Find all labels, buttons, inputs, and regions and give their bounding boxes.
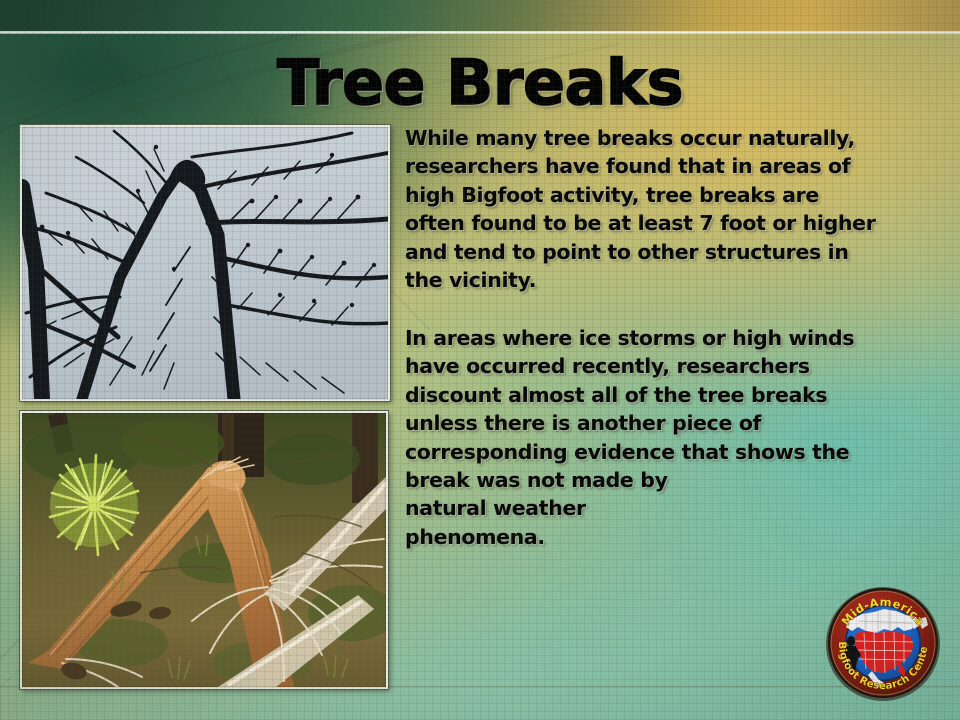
body-line: break was not made by (405, 466, 957, 494)
body-line: phenomena. (405, 523, 957, 551)
body-line: While many tree breaks occur naturally, (405, 124, 957, 152)
body-line: the vicinity. (405, 266, 957, 294)
body-line: discount almost all of the tree breaks (405, 381, 957, 409)
body-line: high Bigfoot activity, tree breaks are (405, 181, 957, 209)
body-paragraph-2: In areas where ice storms or high winds … (405, 324, 957, 551)
background-top-band (0, 0, 960, 32)
body-line: have occurred recently, researchers (405, 352, 957, 380)
body-line: unless there is another piece of (405, 409, 957, 437)
slide-tree-breaks: Tree Breaks (0, 0, 960, 720)
body-line: natural weather (405, 494, 957, 522)
body-line: In areas where ice storms or high winds (405, 324, 957, 352)
tree-break-bare-branches-photo (20, 125, 390, 401)
body-paragraph-1: While many tree breaks occur naturally, … (405, 124, 957, 294)
body-line: often found to be at least 7 foot or hig… (405, 209, 957, 237)
mabrc-logo[interactable]: Mid-America Bigfoot Research Center (822, 585, 944, 703)
background-divider-line (0, 31, 960, 34)
body-line: and tend to point to other structures in (405, 238, 957, 266)
tree-break-snapped-trunk-photo (20, 411, 388, 689)
body-line: researchers have found that in areas of (405, 152, 957, 180)
body-line: corresponding evidence that shows the (405, 438, 957, 466)
page-title: Tree Breaks (0, 52, 960, 114)
